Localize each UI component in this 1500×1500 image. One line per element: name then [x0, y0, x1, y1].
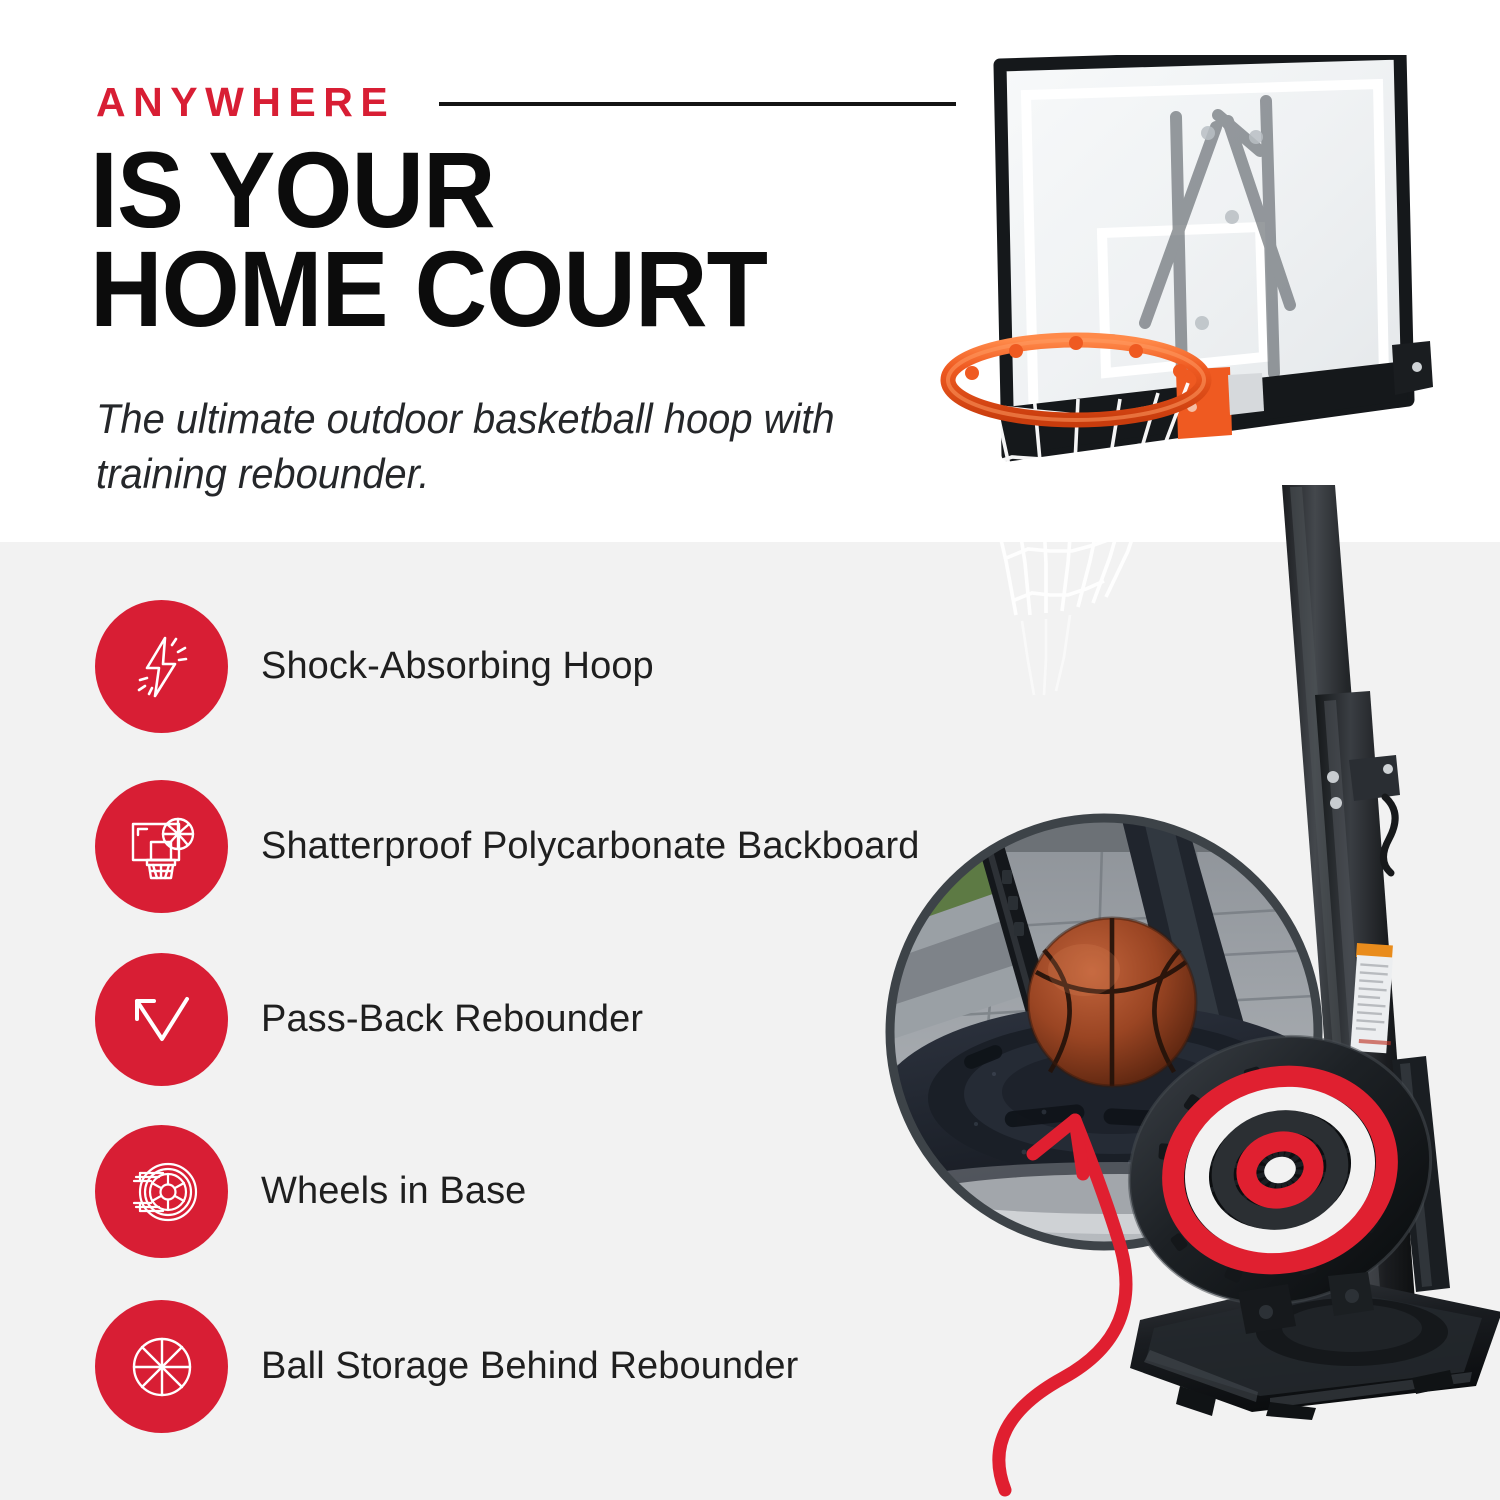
eyebrow-text: ANYWHERE: [96, 82, 395, 123]
feature-label: Ball Storage Behind Rebounder: [261, 1343, 798, 1391]
feature-icon-badge: [95, 1125, 228, 1258]
feature-item-backboard: Shatterproof Polycarbonate Backboard: [95, 780, 919, 913]
basketball-icon: [125, 1330, 199, 1404]
bounce-arrow-icon: [125, 983, 199, 1057]
feature-item-ball-storage: Ball Storage Behind Rebounder: [95, 1300, 798, 1433]
feature-label: Wheels in Base: [261, 1168, 526, 1216]
feature-icon-badge: [95, 1300, 228, 1433]
lightning-bolt-icon: [125, 630, 199, 704]
feature-icon-badge: [95, 953, 228, 1086]
feature-label: Pass-Back Rebounder: [261, 996, 643, 1044]
headline-line-2: HOME COURT: [90, 239, 927, 338]
feature-icon-badge: [95, 780, 228, 913]
feature-item-pass-back-rebounder: Pass-Back Rebounder: [95, 953, 643, 1086]
infographic-canvas: ANYWHERE IS YOUR HOME COURT The ultimate…: [0, 0, 1500, 1500]
eyebrow-row: ANYWHERE: [96, 74, 956, 130]
feature-item-wheels-in-base: Wheels in Base: [95, 1125, 526, 1258]
eyebrow-divider: [439, 102, 956, 106]
backboard-hoop-ball-icon: [123, 808, 201, 886]
subtitle: The ultimate outdoor basketball hoop wit…: [96, 392, 847, 501]
feature-label: Shatterproof Polycarbonate Backboard: [261, 823, 919, 871]
headline-line-1: IS YOUR: [90, 140, 927, 239]
feature-label: Shock-Absorbing Hoop: [261, 643, 654, 691]
feature-item-shock-absorbing-hoop: Shock-Absorbing Hoop: [95, 600, 654, 733]
wheel-icon: [123, 1153, 201, 1231]
feature-icon-badge: [95, 600, 228, 733]
callout-arrow-icon: [975, 1070, 1275, 1500]
page-title: IS YOUR HOME COURT: [90, 140, 927, 339]
